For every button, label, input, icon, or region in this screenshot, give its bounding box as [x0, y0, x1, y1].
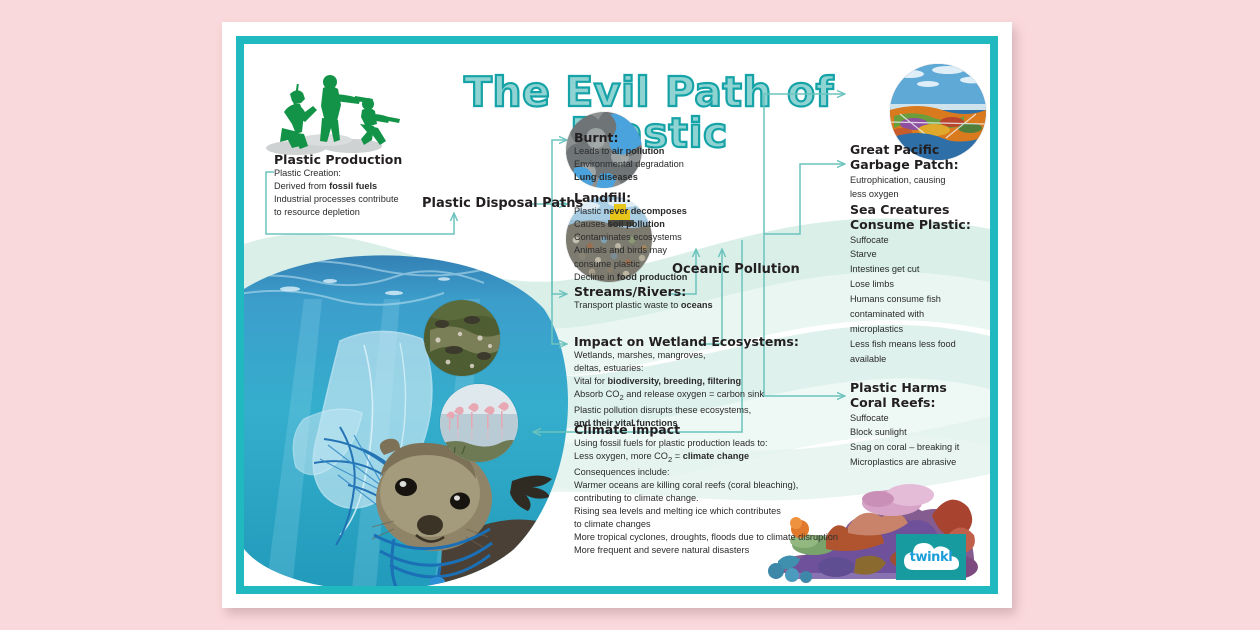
- landfill-line: consume plastic: [574, 258, 764, 271]
- burnt-line: Environmental degradation: [574, 158, 754, 171]
- sea-creatures-line: Intestines get cut: [850, 262, 990, 277]
- coral-reefs-line: Block sunlight: [850, 425, 990, 440]
- node-plastic-harms-coral-reefs: Plastic Harms Coral Reefs: Suffocate Blo…: [850, 380, 990, 470]
- flamingos-photo-art: [440, 384, 518, 462]
- sea-creatures-heading-line2: Consume Plastic:: [850, 217, 990, 232]
- climate-impact-line: Warmer oceans are killing coral reefs (c…: [574, 479, 874, 492]
- plastic-production-line: Derived from fossil fuels: [274, 180, 474, 193]
- burnt-line: Leads to air pollution: [574, 145, 754, 158]
- sea-creatures-line: contaminated with: [850, 307, 990, 322]
- landfill-line: Causes soil pollution: [574, 218, 764, 231]
- sea-creatures-line: Lose limbs: [850, 277, 990, 292]
- node-great-pacific-garbage-patch: Great Pacific Garbage Patch: Eutrophicat…: [850, 142, 982, 202]
- garbage-patch-line: less oxygen: [850, 187, 982, 202]
- sea-creatures-line: microplastics: [850, 322, 990, 337]
- landfill-line: Decline in food production: [574, 271, 764, 284]
- climate-impact-line: to climate changes: [574, 518, 874, 531]
- wetland-flamingos-photo: [440, 384, 518, 462]
- garbage-patch-heading-line2: Garbage Patch:: [850, 157, 982, 172]
- coral-reefs-line: Suffocate: [850, 411, 990, 426]
- node-streams-rivers: Streams/Rivers: Transport plastic waste …: [574, 284, 784, 312]
- landfill-line: Plastic never decomposes: [574, 205, 764, 218]
- wetland-line: deltas, estuaries:: [574, 362, 824, 375]
- climate-impact-line: More tropical cyclones, droughts, floods…: [574, 531, 874, 544]
- poster-canvas: The Evil Path of Plastic: [244, 44, 990, 586]
- coral-reefs-line: Microplastics are abrasive: [850, 455, 990, 470]
- landfill-line: Animals and birds may: [574, 244, 764, 257]
- sea-creatures-heading-line1: Sea Creatures: [850, 202, 990, 217]
- landfill-line: Contaminates ecosystems: [574, 231, 764, 244]
- node-climate-impact: Climate impact Using fossil fuels for pl…: [574, 422, 874, 557]
- sea-creatures-line: Less fish means less food: [850, 337, 990, 352]
- climate-impact-line: Consequences include:: [574, 466, 874, 479]
- climate-impact-line: contributing to climate change.: [574, 492, 874, 505]
- twinkl-wordmark: twinkl: [902, 540, 960, 574]
- coral-reefs-heading-line1: Plastic Harms: [850, 380, 990, 395]
- sea-creatures-line: available: [850, 352, 990, 367]
- climate-impact-line: Less oxygen, more CO2 = climate change: [574, 450, 874, 466]
- plastic-production-heading: Plastic Production: [274, 152, 474, 167]
- seal-entangled-in-plastic-illustration: [244, 249, 574, 586]
- climate-impact-heading: Climate impact: [574, 422, 874, 437]
- wetland-line: Plastic pollution disrupts these ecosyst…: [574, 404, 824, 417]
- wetland-line: Wetlands, marshes, mangroves,: [574, 349, 824, 362]
- streams-rivers-heading: Streams/Rivers:: [574, 284, 784, 299]
- burnt-line: Lung diseases: [574, 171, 754, 184]
- burnt-heading: Burnt:: [574, 130, 754, 145]
- climate-impact-line: More frequent and severe natural disaste…: [574, 544, 874, 557]
- polluted-stream-photo-art: [424, 300, 500, 376]
- wetland-line: Vital for biodiversity, breeding, filter…: [574, 375, 824, 388]
- garbage-patch-heading-line1: Great Pacific: [850, 142, 982, 157]
- landfill-heading: Landfill:: [574, 190, 764, 205]
- toy-soldiers-icon: [260, 66, 400, 158]
- sea-creatures-line: Suffocate: [850, 233, 990, 248]
- node-burnt: Burnt: Leads to air pollution Environmen…: [574, 130, 754, 184]
- sea-creatures-line: Starve: [850, 247, 990, 262]
- sea-creatures-line: Humans consume fish: [850, 292, 990, 307]
- poster-paper: The Evil Path of Plastic: [222, 22, 1012, 608]
- poster-border: The Evil Path of Plastic: [236, 36, 998, 594]
- wetland-heading: Impact on Wetland Ecosystems:: [574, 334, 824, 349]
- node-wetland-ecosystems: Impact on Wetland Ecosystems: Wetlands, …: [574, 334, 824, 430]
- streams-rivers-photo: [424, 300, 500, 376]
- twinkl-logo: twinkl: [896, 534, 966, 580]
- streams-rivers-line: Transport plastic waste to oceans: [574, 299, 784, 312]
- climate-impact-line: Using fossil fuels for plastic productio…: [574, 437, 874, 450]
- climate-impact-line: Rising sea levels and melting ice which …: [574, 505, 874, 518]
- plastic-production-line: Plastic Creation:: [274, 167, 474, 180]
- node-sea-creatures-consume-plastic: Sea Creatures Consume Plastic: Suffocate…: [850, 202, 990, 367]
- wetland-line: Absorb CO2 and release oxygen = carbon s…: [574, 388, 824, 404]
- coral-reefs-line: Snag on coral – breaking it: [850, 440, 990, 455]
- coral-reefs-heading-line2: Coral Reefs:: [850, 395, 990, 410]
- node-landfill: Landfill: Plastic never decomposes Cause…: [574, 190, 764, 284]
- garbage-patch-line: Eutrophication, causing: [850, 173, 982, 188]
- node-plastic-disposal-paths: Plastic Disposal Paths: [422, 196, 583, 211]
